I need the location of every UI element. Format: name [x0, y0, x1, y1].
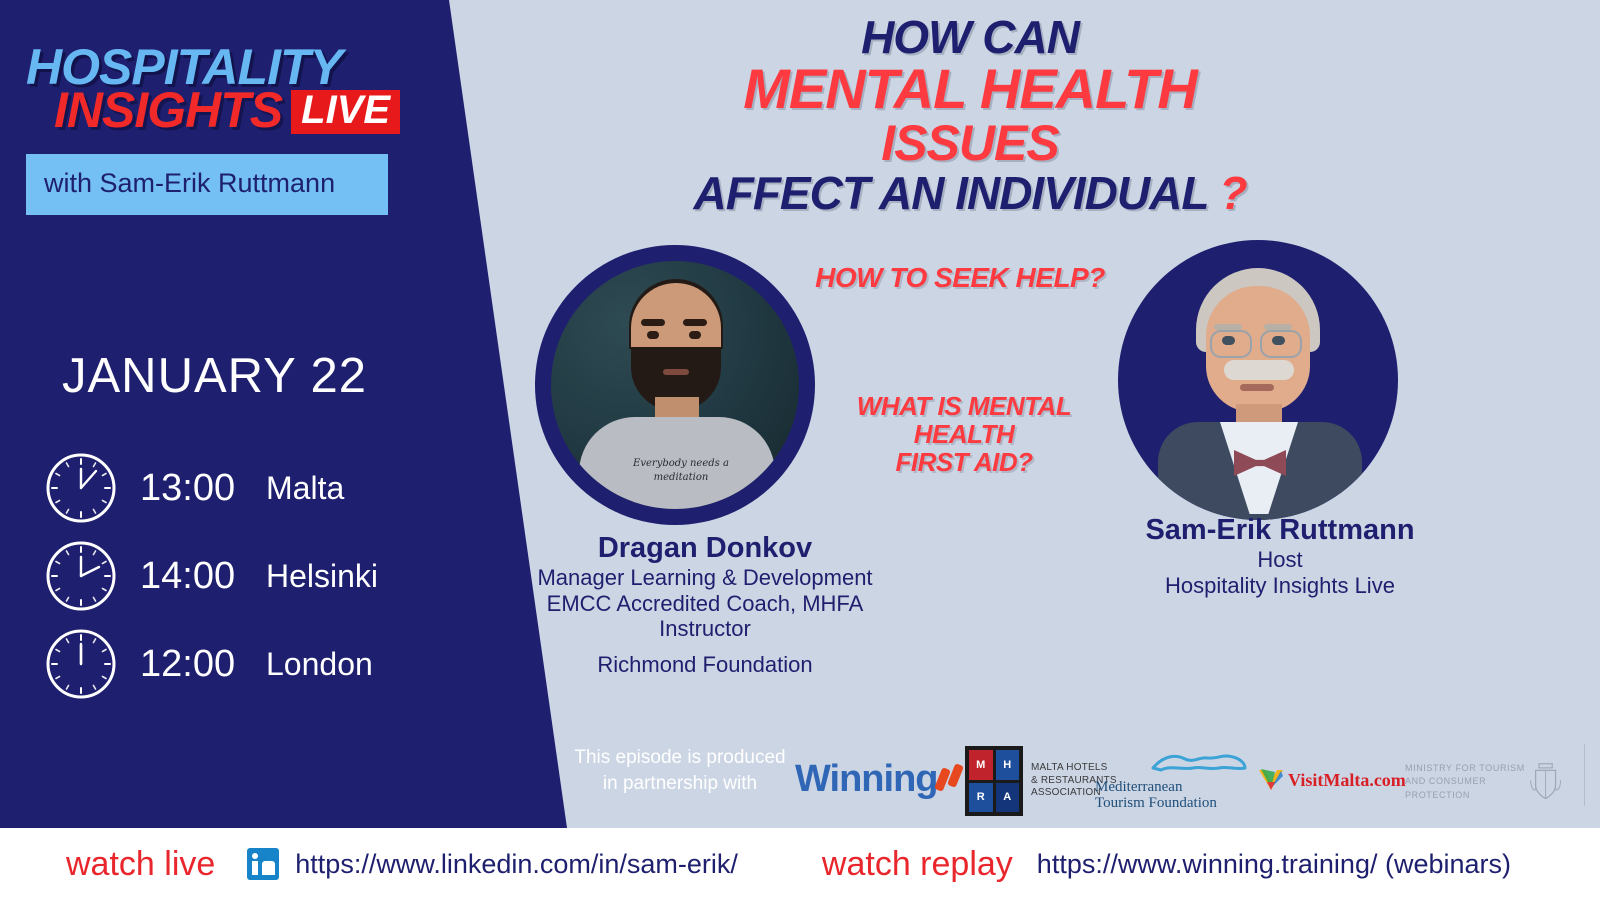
headline-line-2: MENTAL HEALTH — [620, 61, 1320, 117]
clock-icon-malta — [44, 451, 118, 525]
headline-line-4: AFFECT AN INDIVIDUAL ? — [620, 170, 1320, 216]
footer-bar: watch live https://www.linkedin.com/in/s… — [0, 828, 1600, 900]
watch-replay-label: watch replay — [822, 845, 1013, 884]
poster-canvas: HOSPITALITY INSIGHTS LIVE with Sam-Erik … — [0, 0, 1600, 900]
winning-logo: Winning — [795, 758, 982, 801]
linkedin-url[interactable]: https://www.linkedin.com/in/sam-erik/ — [295, 849, 738, 880]
mhra-logo-mark: M H R A — [965, 746, 1023, 816]
mhra-logo: M H R A MALTA HOTELS & RESTAURANTS ASSOC… — [965, 746, 1117, 816]
partnership-intro: This episode is produced in partnership … — [560, 745, 800, 797]
guest-portrait: Everybody needs a meditation — [535, 245, 815, 525]
ministry-text-line-1: MINISTRY FOR TOURISM — [1405, 762, 1529, 776]
host-caption: Sam-Erik Ruttmann Host Hospitality Insig… — [1110, 514, 1450, 598]
mhra-letter-m: M — [969, 750, 993, 780]
guest-portrait-photo: Everybody needs a meditation — [551, 261, 799, 509]
partner-logo-strip: Winning M H R A MALTA HOTELS & RESTAURAN… — [795, 742, 1585, 822]
mediterranean-sea-icon — [1149, 748, 1249, 778]
timezone-city-london: London — [266, 646, 373, 683]
host-role: Host — [1110, 547, 1450, 573]
logo-live-badge: LIVE — [291, 90, 400, 134]
guest-organization: Richmond Foundation — [500, 652, 910, 678]
host-name: Sam-Erik Ruttmann — [1110, 514, 1450, 547]
visitmalta-logo-text: VisitMalta.com — [1288, 770, 1406, 791]
question-first-aid: WHAT IS MENTAL HEALTH FIRST AID? — [808, 392, 1120, 476]
partnership-intro-line-1: This episode is produced — [560, 745, 800, 771]
host-portrait — [1118, 240, 1398, 520]
guest-tshirt-text: Everybody needs a meditation — [621, 457, 741, 484]
mtf-text-line-1: Mediterranean — [1095, 779, 1249, 795]
headline-line-1: HOW CAN — [620, 14, 1320, 60]
guest-name: Dragan Donkov — [500, 532, 910, 565]
timezone-row-london: 12:00 London — [44, 620, 434, 708]
mtf-text-line-2: Tourism Foundation — [1095, 795, 1249, 811]
timezone-time-london: 12:00 — [140, 643, 256, 686]
timezone-time-helsinki: 14:00 — [140, 555, 256, 598]
show-logo: HOSPITALITY INSIGHTS LIVE with Sam-Erik … — [26, 44, 426, 215]
mtf-logo-text: Mediterranean Tourism Foundation — [1095, 779, 1249, 811]
mhra-letter-a: A — [996, 783, 1020, 813]
mediterranean-tourism-foundation-logo: Mediterranean Tourism Foundation — [1095, 748, 1249, 811]
ministry-logo-divider — [1584, 744, 1585, 806]
timezone-row-helsinki: 14:00 Helsinki — [44, 532, 434, 620]
guest-role-1: Manager Learning & Development — [500, 565, 910, 591]
timezone-city-malta: Malta — [266, 470, 344, 507]
logo-line-insights: INSIGHTS — [54, 87, 282, 134]
malta-coat-of-arms-icon — [1529, 758, 1562, 806]
guest-role-3: Instructor — [500, 616, 910, 642]
linkedin-icon[interactable] — [247, 848, 279, 880]
logo-line-insights-live: INSIGHTS LIVE — [54, 87, 426, 134]
question-first-aid-line-1: WHAT IS MENTAL HEALTH — [808, 392, 1120, 448]
headline-line-4-text: AFFECT AN INDIVIDUAL — [694, 167, 1208, 219]
watch-live-label: watch live — [66, 845, 215, 884]
timezone-row-malta: 13:00 Malta — [44, 444, 434, 532]
ministry-logo: MINISTRY FOR TOURISM AND CONSUMER PROTEC… — [1405, 744, 1585, 806]
host-portrait-photo — [1148, 264, 1368, 520]
visitmalta-logo: VisitMalta.com — [1257, 768, 1406, 792]
guest-role-2: EMCC Accredited Coach, MHFA — [500, 591, 910, 617]
question-first-aid-line-2: FIRST AID? — [808, 448, 1120, 476]
visitmalta-v-icon — [1257, 768, 1285, 792]
ministry-logo-text: MINISTRY FOR TOURISM AND CONSUMER PROTEC… — [1405, 762, 1529, 803]
partnership-intro-line-2: in partnership with — [560, 771, 800, 797]
winning-logo-text: Winning — [795, 758, 938, 801]
guest-caption: Dragan Donkov Manager Learning & Develop… — [500, 532, 910, 677]
question-seek-help: HOW TO SEEK HELP? — [815, 262, 1105, 294]
clock-icon-helsinki — [44, 539, 118, 613]
event-date: JANUARY 22 — [62, 348, 367, 404]
logo-host-bar: with Sam-Erik Ruttmann — [26, 154, 388, 215]
host-show: Hospitality Insights Live — [1110, 573, 1450, 599]
timezone-list: 13:00 Malta — [44, 444, 434, 708]
replay-url[interactable]: https://www.winning.training/ (webinars) — [1037, 849, 1511, 880]
headline-question-mark: ? — [1219, 167, 1246, 219]
mhra-letter-r: R — [969, 783, 993, 813]
mhra-letter-h: H — [996, 750, 1020, 780]
headline-line-3: ISSUES — [620, 118, 1320, 168]
headline-block: HOW CAN MENTAL HEALTH ISSUES AFFECT AN I… — [620, 14, 1320, 216]
ministry-text-line-2: AND CONSUMER PROTECTION — [1405, 775, 1529, 802]
timezone-city-helsinki: Helsinki — [266, 558, 378, 595]
clock-icon-london — [44, 627, 118, 701]
timezone-time-malta: 13:00 — [140, 467, 256, 510]
